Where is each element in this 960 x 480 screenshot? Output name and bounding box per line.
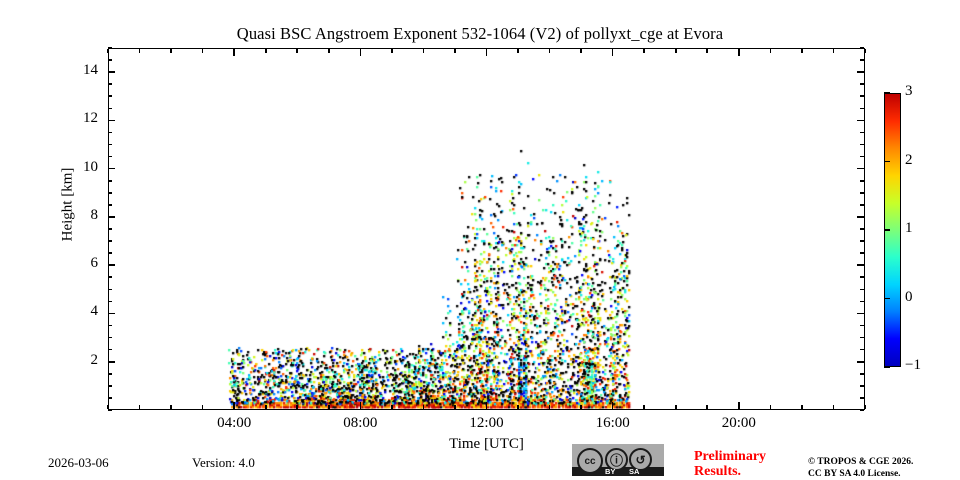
x-minor-tick bbox=[454, 405, 456, 409]
y-tick-label: 6 bbox=[66, 255, 98, 272]
x-minor-tick-top bbox=[423, 49, 425, 53]
x-minor-tick-top bbox=[517, 49, 519, 53]
x-tick-label: 16:00 bbox=[583, 415, 643, 432]
y-tick-label: 12 bbox=[66, 110, 98, 127]
x-minor-tick bbox=[706, 405, 708, 409]
y-minor-tick bbox=[108, 337, 112, 339]
y-minor-tick bbox=[108, 204, 112, 206]
page-title: Quasi BSC Angstroem Exponent 532-1064 (V… bbox=[0, 24, 960, 44]
y-major-tick bbox=[108, 313, 115, 315]
y-tick-label: 14 bbox=[66, 62, 98, 79]
colorbar-tick bbox=[884, 92, 890, 93]
x-minor-tick-top bbox=[864, 49, 866, 53]
y-minor-tick bbox=[860, 156, 864, 158]
y-minor-tick bbox=[860, 180, 864, 182]
y-minor-tick bbox=[860, 252, 864, 254]
y-minor-tick bbox=[108, 276, 112, 278]
x-minor-tick-top bbox=[202, 49, 204, 53]
x-minor-tick-top bbox=[706, 49, 708, 53]
x-minor-tick bbox=[328, 405, 330, 409]
preliminary-line-1: Preliminary bbox=[694, 449, 804, 464]
y-minor-tick bbox=[108, 108, 112, 110]
y-major-tick bbox=[108, 216, 115, 218]
x-minor-tick-top bbox=[833, 49, 835, 53]
y-tick-label: 8 bbox=[66, 207, 98, 224]
copyright-line-2: CC BY SA 4.0 License. bbox=[808, 469, 913, 480]
y-minor-tick bbox=[860, 325, 864, 327]
x-major-tick-top bbox=[486, 49, 488, 56]
x-major-tick-top bbox=[612, 49, 614, 56]
y-minor-tick bbox=[860, 83, 864, 85]
y-minor-tick bbox=[108, 349, 112, 351]
y-major-tick bbox=[857, 120, 864, 122]
x-major-tick bbox=[486, 402, 488, 409]
y-major-tick bbox=[108, 120, 115, 122]
y-minor-tick bbox=[860, 192, 864, 194]
y-minor-tick bbox=[860, 144, 864, 146]
y-minor-tick bbox=[860, 132, 864, 134]
x-tick-label: 04:00 bbox=[204, 415, 264, 432]
x-major-tick bbox=[612, 402, 614, 409]
preliminary-line-2: Results. bbox=[694, 464, 804, 479]
y-minor-tick bbox=[108, 144, 112, 146]
y-minor-tick bbox=[860, 289, 864, 291]
x-minor-tick bbox=[202, 405, 204, 409]
y-minor-tick bbox=[108, 59, 112, 61]
x-minor-tick-top bbox=[801, 49, 803, 53]
x-minor-tick-top bbox=[139, 49, 141, 53]
creative-commons-badge-icon: cc ⓘ ↺ BY SA bbox=[572, 444, 664, 476]
x-minor-tick bbox=[643, 405, 645, 409]
colorbar-tick-label: 0 bbox=[905, 289, 913, 306]
x-tick-label: 08:00 bbox=[330, 415, 390, 432]
y-minor-tick bbox=[860, 95, 864, 97]
colorbar-tick bbox=[884, 366, 890, 367]
y-tick-label: 10 bbox=[66, 159, 98, 176]
x-minor-tick bbox=[801, 405, 803, 409]
x-tick-label: 12:00 bbox=[457, 415, 517, 432]
cc-sa-label: SA bbox=[629, 467, 639, 476]
y-minor-tick bbox=[108, 301, 112, 303]
x-major-tick bbox=[738, 402, 740, 409]
x-major-tick-top bbox=[233, 49, 235, 56]
y-minor-tick bbox=[860, 337, 864, 339]
y-minor-tick bbox=[108, 325, 112, 327]
y-minor-tick bbox=[860, 240, 864, 242]
x-tick-label: 20:00 bbox=[709, 415, 769, 432]
colorbar-tick bbox=[884, 161, 890, 162]
x-minor-tick-top bbox=[643, 49, 645, 53]
y-major-tick bbox=[857, 313, 864, 315]
cc-by-label: BY bbox=[605, 467, 615, 476]
x-minor-tick-top bbox=[675, 49, 677, 53]
y-minor-tick bbox=[860, 385, 864, 387]
y-minor-tick bbox=[108, 132, 112, 134]
y-minor-tick bbox=[860, 373, 864, 375]
x-major-tick-top bbox=[738, 49, 740, 56]
y-minor-tick bbox=[108, 180, 112, 182]
y-minor-tick bbox=[860, 397, 864, 399]
y-minor-tick bbox=[108, 252, 112, 254]
preliminary-results-notice: Preliminary Results. bbox=[694, 449, 804, 479]
y-major-tick bbox=[857, 264, 864, 266]
cc-logo-icon: cc bbox=[577, 448, 603, 474]
y-minor-tick bbox=[108, 83, 112, 85]
footer-version: Version: 4.0 bbox=[192, 455, 255, 471]
y-minor-tick bbox=[108, 192, 112, 194]
y-minor-tick bbox=[108, 385, 112, 387]
y-major-tick bbox=[857, 71, 864, 73]
x-minor-tick-top bbox=[770, 49, 772, 53]
x-minor-tick bbox=[770, 405, 772, 409]
x-minor-tick-top bbox=[107, 49, 109, 53]
y-minor-tick bbox=[108, 240, 112, 242]
x-major-tick bbox=[360, 402, 362, 409]
x-minor-tick bbox=[139, 405, 141, 409]
y-major-tick bbox=[108, 361, 115, 363]
colorbar-tick-label: −1 bbox=[905, 357, 921, 374]
copyright-line-1: © TROPOS & CGE 2026. bbox=[808, 457, 913, 469]
x-minor-tick-top bbox=[391, 49, 393, 53]
y-minor-tick bbox=[860, 204, 864, 206]
y-major-tick bbox=[857, 361, 864, 363]
x-minor-tick bbox=[265, 405, 267, 409]
x-minor-tick-top bbox=[265, 49, 267, 53]
y-tick-label: 4 bbox=[66, 303, 98, 320]
y-minor-tick bbox=[860, 301, 864, 303]
colorbar-tick bbox=[884, 229, 890, 230]
quasi-bsc-angstroem-data-field bbox=[109, 49, 864, 409]
y-minor-tick bbox=[860, 59, 864, 61]
figure-root: Quasi BSC Angstroem Exponent 532-1064 (V… bbox=[0, 0, 960, 480]
x-minor-tick bbox=[170, 405, 172, 409]
y-major-tick bbox=[857, 216, 864, 218]
x-minor-tick bbox=[675, 405, 677, 409]
colorbar-tick bbox=[884, 298, 890, 299]
y-major-tick bbox=[108, 264, 115, 266]
x-minor-tick bbox=[864, 405, 866, 409]
x-minor-tick-top bbox=[580, 49, 582, 53]
colorbar-tick-label: 1 bbox=[905, 220, 913, 237]
y-minor-tick bbox=[108, 156, 112, 158]
y-minor-tick bbox=[860, 276, 864, 278]
y-minor-tick bbox=[860, 349, 864, 351]
x-minor-tick-top bbox=[170, 49, 172, 53]
x-minor-tick bbox=[580, 405, 582, 409]
y-major-tick bbox=[108, 71, 115, 73]
x-minor-tick-top bbox=[296, 49, 298, 53]
y-minor-tick bbox=[108, 397, 112, 399]
y-minor-tick bbox=[860, 409, 864, 411]
y-minor-tick bbox=[108, 289, 112, 291]
y-minor-tick bbox=[108, 228, 112, 230]
x-minor-tick-top bbox=[549, 49, 551, 53]
y-major-tick bbox=[857, 168, 864, 170]
footer-date: 2026-03-06 bbox=[48, 455, 109, 471]
x-minor-tick bbox=[107, 405, 109, 409]
copyright-notice: © TROPOS & CGE 2026. CC BY SA 4.0 Licens… bbox=[808, 457, 913, 480]
y-minor-tick bbox=[860, 108, 864, 110]
y-minor-tick bbox=[108, 373, 112, 375]
x-minor-tick bbox=[833, 405, 835, 409]
x-minor-tick bbox=[423, 405, 425, 409]
colorbar-tick-label: 2 bbox=[905, 152, 913, 169]
y-tick-label: 2 bbox=[66, 352, 98, 369]
x-minor-tick bbox=[517, 405, 519, 409]
x-minor-tick bbox=[296, 405, 298, 409]
y-minor-tick bbox=[108, 409, 112, 411]
y-minor-tick bbox=[860, 228, 864, 230]
x-minor-tick bbox=[549, 405, 551, 409]
x-minor-tick-top bbox=[454, 49, 456, 53]
colorbar-tick-label: 3 bbox=[905, 83, 913, 100]
x-major-tick-top bbox=[360, 49, 362, 56]
y-major-tick bbox=[108, 168, 115, 170]
x-major-tick bbox=[233, 402, 235, 409]
y-minor-tick bbox=[108, 95, 112, 97]
x-minor-tick bbox=[391, 405, 393, 409]
x-minor-tick-top bbox=[328, 49, 330, 53]
